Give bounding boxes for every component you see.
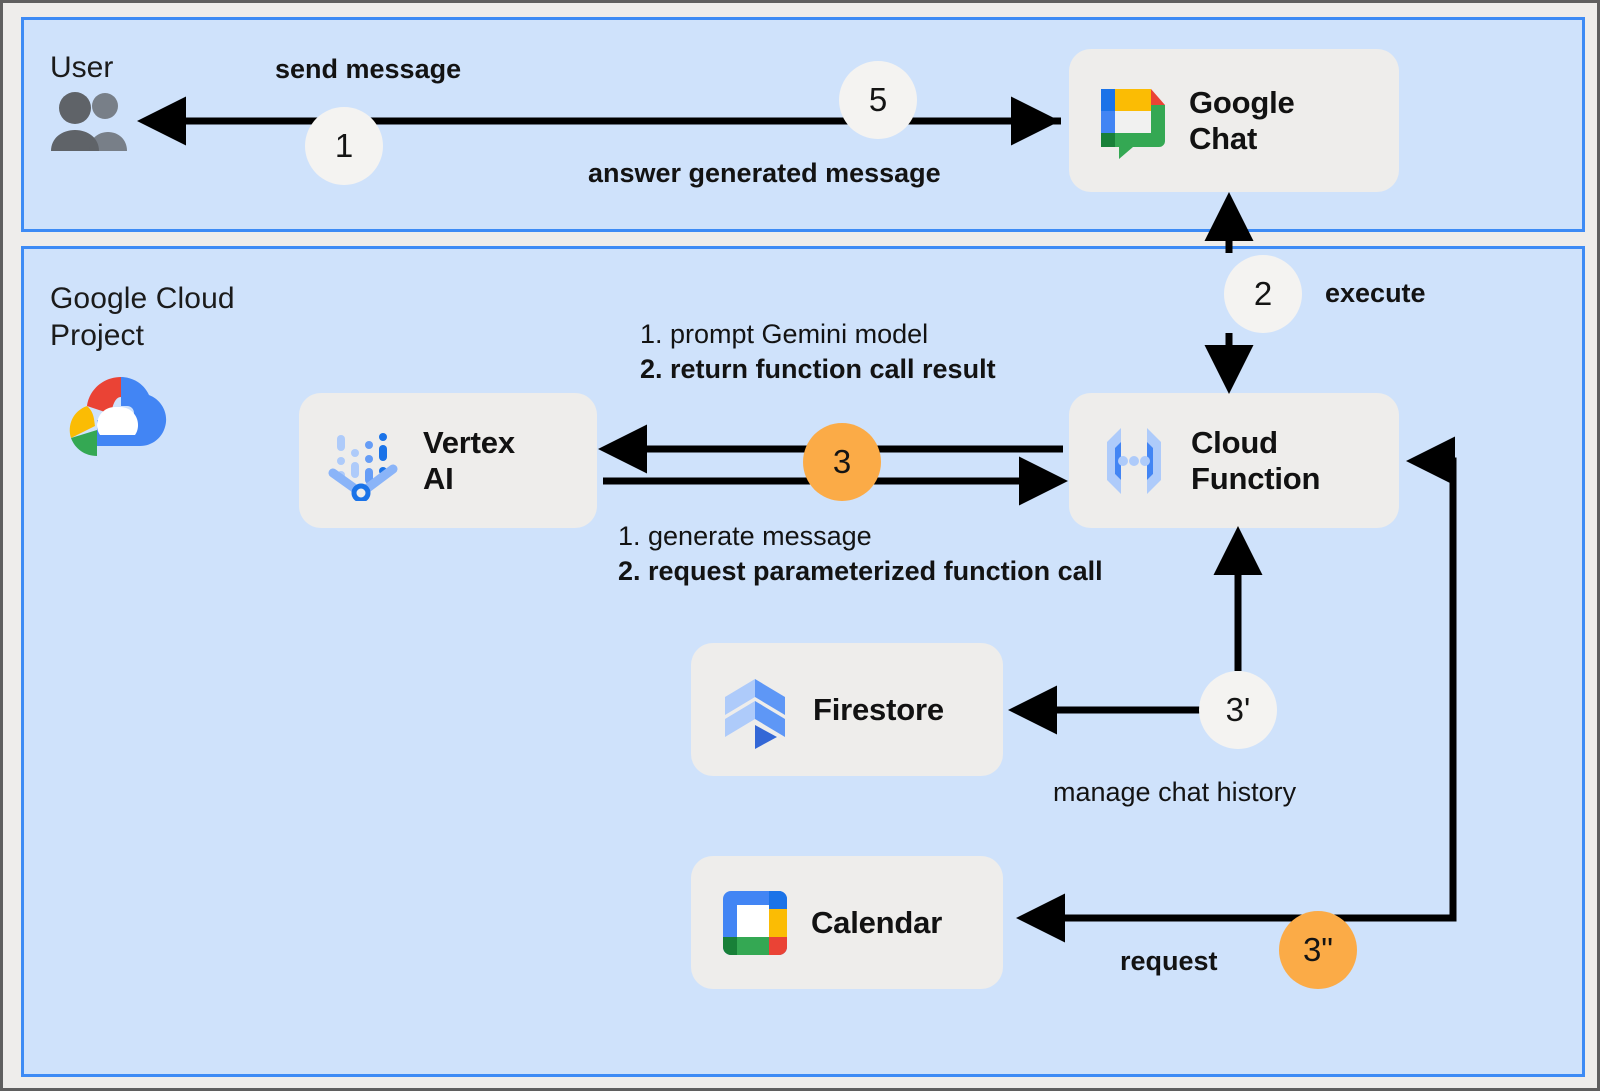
node-google-calendar-label: Calendar (811, 905, 942, 941)
caption-request: request (1120, 944, 1218, 979)
step-badge-2: 2 (1224, 255, 1302, 333)
caption-manage-chat-history: manage chat history (1053, 775, 1296, 810)
node-vertex-ai[interactable]: Vertex AI (299, 393, 597, 528)
caption-send-message: send message (275, 52, 461, 87)
panel-cloud-label: Google Cloud Project (50, 280, 235, 354)
step-badge-3: 3 (803, 423, 881, 501)
node-google-chat[interactable]: Google Chat (1069, 49, 1399, 192)
caption-vertex-lower-line1: 1. generate message (618, 519, 1103, 554)
node-vertex-ai-label: Vertex AI (423, 425, 515, 497)
step-badge-1: 1 (305, 107, 383, 185)
cloud-functions-logo (1095, 422, 1173, 500)
users-icon (47, 91, 131, 155)
google-chat-logo (1095, 83, 1171, 159)
step-badge-5: 5 (839, 61, 917, 139)
vertex-ai-logo (325, 421, 405, 501)
caption-answer-generated-message: answer generated message (588, 156, 941, 191)
diagram-canvas: User Google Cloud Project Google Chat (0, 0, 1600, 1091)
node-google-chat-label: Google Chat (1189, 85, 1295, 157)
caption-execute: execute (1325, 276, 1426, 311)
firestore-logo (717, 671, 795, 749)
google-calendar-logo (717, 885, 793, 961)
step-badge-3-double-prime: 3" (1279, 911, 1357, 989)
node-cloud-function[interactable]: Cloud Function (1069, 393, 1399, 528)
google-cloud-logo (67, 373, 175, 459)
node-cloud-function-label: Cloud Function (1191, 425, 1320, 497)
panel-user-label: User (50, 51, 113, 85)
node-google-calendar[interactable]: Calendar (691, 856, 1003, 989)
caption-vertex-lower: 1. generate message 2. request parameter… (618, 519, 1103, 589)
node-firestore[interactable]: Firestore (691, 643, 1003, 776)
node-firestore-label: Firestore (813, 692, 944, 728)
caption-vertex-lower-line2: 2. request parameterized function call (618, 554, 1103, 589)
caption-vertex-upper-line2: 2. return function call result (640, 352, 996, 387)
step-badge-3-prime: 3' (1199, 671, 1277, 749)
caption-vertex-upper-line1: 1. prompt Gemini model (640, 317, 996, 352)
caption-vertex-upper: 1. prompt Gemini model 2. return functio… (640, 317, 996, 387)
